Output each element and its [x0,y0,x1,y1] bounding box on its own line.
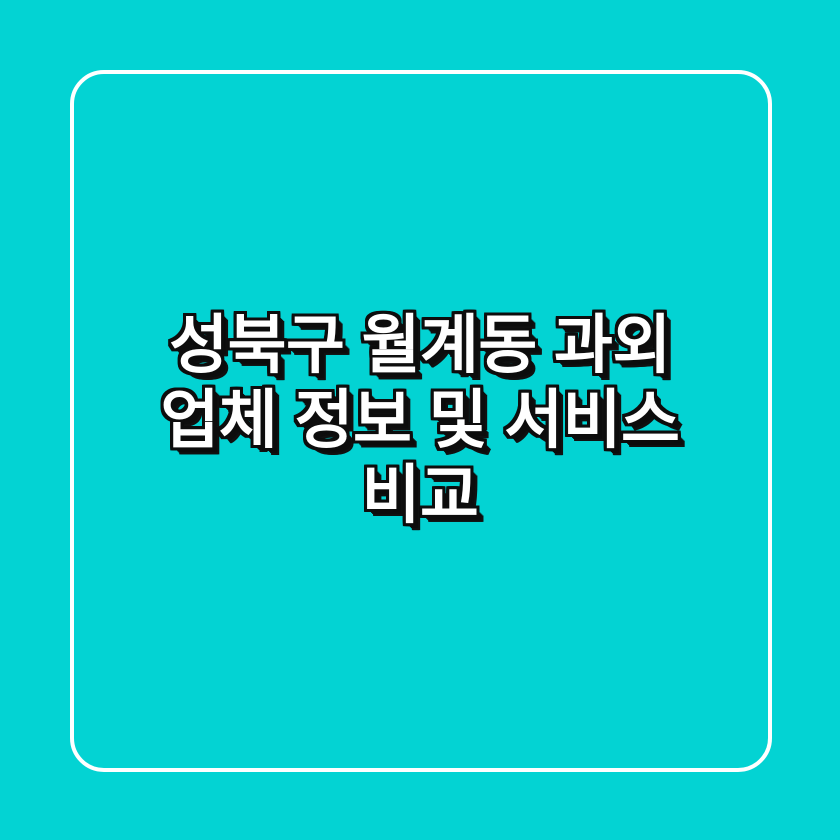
page-title: 성북구 월계동 과외 업체 정보 및 서비스 비교 [100,308,740,533]
thumbnail-card: 성북구 월계동 과외 업체 정보 및 서비스 비교 [0,0,840,840]
title-block: 성북구 월계동 과외 업체 정보 및 서비스 비교 [90,308,750,533]
